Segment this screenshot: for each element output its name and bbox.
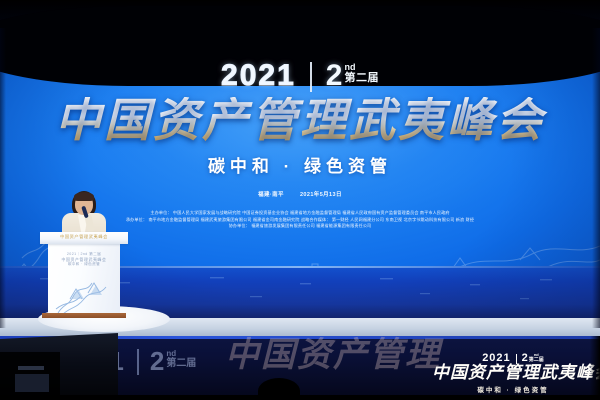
bottom-black-bar — [0, 395, 600, 400]
podium-top-text: 中国资产管理武夷峰会 — [40, 235, 128, 239]
stage-front-edition-side: nd 第二届 — [166, 348, 196, 370]
stage-front-edition-superscript: nd — [166, 350, 196, 358]
ceiling-curve-mask — [0, 6, 600, 86]
stage-front-divider — [137, 349, 139, 375]
speaker-hair-fringe — [74, 192, 94, 201]
podium-front-panel: 2021｜2nd 第二届 中国资产管理武夷峰会 碳中和 · 绿色资管 — [48, 243, 120, 315]
stage-front-edition: 2 nd 第二届 — [150, 348, 196, 374]
podium-top-surface: 中国资产管理武夷峰会 — [40, 232, 128, 244]
screen-left-shadow — [0, 28, 6, 328]
watermark-title: 中国资产管理武夷峰会 — [432, 365, 594, 383]
foreground-equipment-bar — [18, 366, 44, 370]
conference-stage-photo: 2021 2 nd 第二届 中国资产管理武夷峰会 中国资产管理武夷峰会 碳中和 … — [0, 0, 600, 400]
podium-base-trim — [42, 313, 126, 318]
stage-front-title: 中国资产管理 — [225, 338, 441, 372]
watermark-edition-side: nd 第二届 — [529, 353, 544, 363]
watermark-subtitle: 碳中和 · 绿色资管 — [432, 384, 594, 394]
foreground-equipment-block — [15, 374, 49, 392]
podium-panel-text: 2021｜2nd 第二届 中国资产管理武夷峰会 碳中和 · 绿色资管 — [48, 252, 120, 266]
stage-front-edition-chinese: 第二届 — [166, 358, 196, 370]
screen-right-shadow — [592, 28, 600, 328]
podium-panel-line-3: 碳中和 · 绿色资管 — [48, 262, 120, 267]
podium-mountain-artwork — [54, 269, 116, 315]
watermark-logo: 2021 2 nd 第二届 中国资产管理武夷峰会 碳中和 · 绿色资管 — [432, 353, 594, 394]
foreground-right-shadow — [590, 336, 600, 400]
stage-front-edition-number: 2 — [150, 348, 164, 374]
